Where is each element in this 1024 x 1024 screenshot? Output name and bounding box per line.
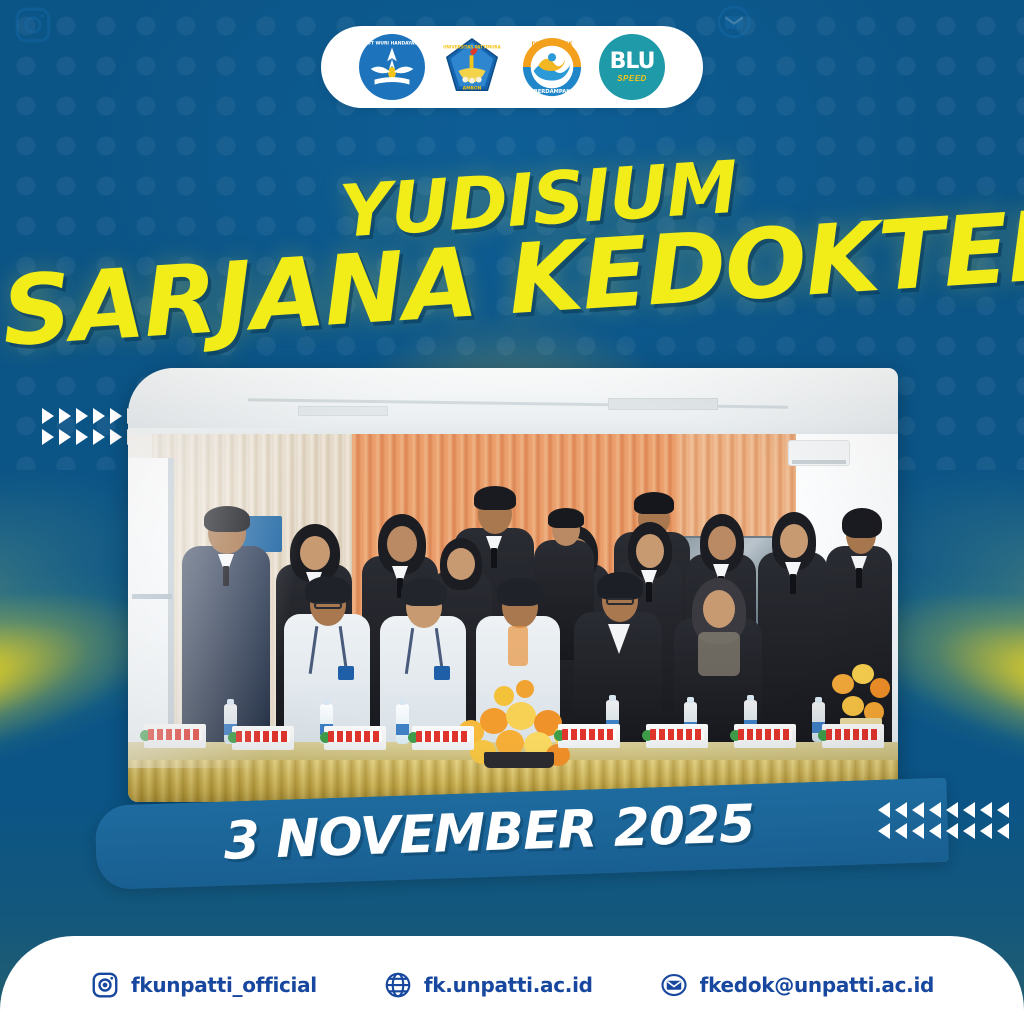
triangle-left-icon [997,823,1009,839]
logo-tut-wuri-handayani: TUT WURI HANDAYANI [359,34,425,100]
triangle-right-icon [93,408,105,424]
triangle-right-icon [110,408,122,424]
triangle-right-icon [42,429,54,445]
poster-root: TUT WURI HANDAYANI UNIVERSITAS PATTIMURA… [0,0,1024,1024]
contact-email[interactable]: fkedok@unpatti.ac.id [659,970,934,1000]
svg-text:DIKTISAINTEK: DIKTISAINTEK [531,42,573,48]
svg-text:BERDAMPAK: BERDAMPAK [534,89,572,95]
globe-icon [383,970,413,1000]
blu-sub-label: SPEED [617,75,647,83]
svg-text:TUT WURI HANDAYANI: TUT WURI HANDAYANI [364,41,420,47]
triangle-right-icon [110,429,122,445]
arrow-row [878,802,1009,818]
triangle-right-icon [42,408,54,424]
event-photo [128,368,898,802]
decor-arrows-right [878,802,1009,839]
triangle-right-icon [76,408,88,424]
triangle-right-icon [76,429,88,445]
triangle-left-icon [963,802,975,818]
logo-bar: TUT WURI HANDAYANI UNIVERSITAS PATTIMURA… [321,26,703,108]
triangle-left-icon [895,802,907,818]
triangle-left-icon [895,823,907,839]
logo-diktisaintek-berdampak: DIKTISAINTEK BERDAMPAK [519,34,585,100]
triangle-left-icon [912,802,924,818]
triangle-right-icon [93,429,105,445]
logo-universitas-pattimura: UNIVERSITAS PATTIMURA AMBON [439,34,505,100]
logo-blu-speed: BLU SPEED [599,34,665,100]
email-address: fkedok@unpatti.ac.id [700,973,934,997]
triangle-left-icon [946,802,958,818]
triangle-left-icon [997,802,1009,818]
triangle-right-icon [59,408,71,424]
contact-website[interactable]: fk.unpatti.ac.id [383,970,593,1000]
triangle-left-icon [878,802,890,818]
footer-contact-bar: fkunpatti_official fk.unpatti.ac.id [0,936,1024,1024]
triangle-left-icon [929,802,941,818]
triangle-left-icon [878,823,890,839]
website-url: fk.unpatti.ac.id [424,973,593,997]
triangle-left-icon [946,823,958,839]
svg-text:AMBON: AMBON [463,85,482,91]
instagram-icon [90,970,120,1000]
instagram-handle: fkunpatti_official [131,973,317,997]
arrow-row [878,823,1009,839]
mail-icon [659,970,689,1000]
mail-watermark-icon [714,2,754,42]
triangle-left-icon [980,802,992,818]
triangle-left-icon [980,823,992,839]
instagram-watermark-icon [12,4,54,46]
triangle-left-icon [912,823,924,839]
svg-text:UNIVERSITAS PATTIMURA: UNIVERSITAS PATTIMURA [443,45,501,50]
triangle-left-icon [963,823,975,839]
blu-label: BLU [610,51,655,73]
triangle-left-icon [929,823,941,839]
triangle-right-icon [59,429,71,445]
contact-instagram[interactable]: fkunpatti_official [90,970,317,1000]
